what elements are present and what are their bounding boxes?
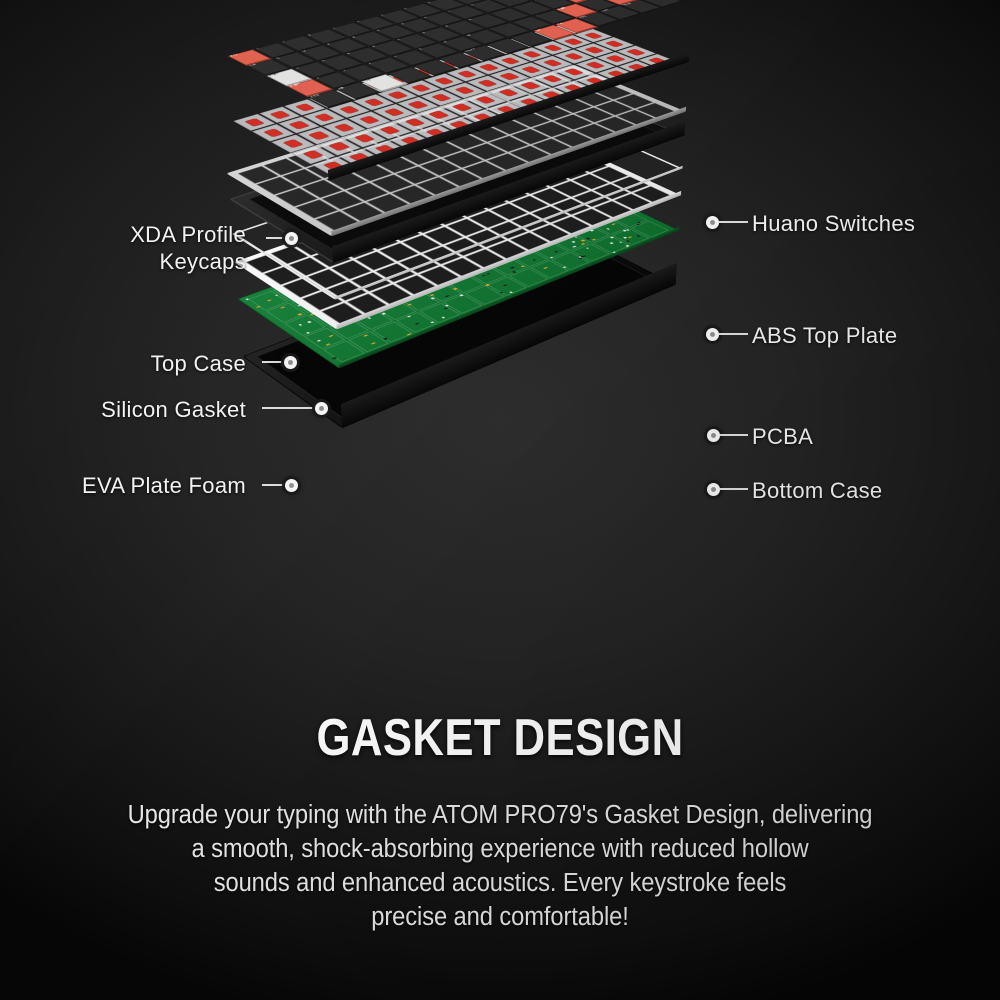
keycap: Q bbox=[274, 52, 317, 68]
keycap-legend: J bbox=[446, 26, 450, 27]
pcb-pad bbox=[307, 321, 311, 323]
pcb-pad bbox=[481, 275, 485, 277]
plate-cutout bbox=[553, 114, 592, 129]
switch bbox=[465, 92, 506, 108]
pcb-pad bbox=[510, 267, 514, 269]
switch bbox=[421, 90, 462, 106]
pcb-pad bbox=[503, 284, 507, 286]
callout-label-left-1: Top Case bbox=[92, 351, 246, 378]
switch bbox=[488, 85, 529, 101]
keycap-legend: Y bbox=[401, 23, 405, 25]
pcb-socket bbox=[304, 328, 345, 349]
iso-scene: ESC1234567890-=BACKDELTABQWERTYUIOP[]\PG… bbox=[240, 55, 760, 615]
keycap-legend: H bbox=[422, 32, 426, 34]
plate-cutout bbox=[574, 107, 613, 122]
pcb-pad bbox=[382, 313, 386, 315]
keycap: D bbox=[345, 47, 388, 63]
keycap: P bbox=[491, 0, 531, 7]
pcb-pad bbox=[563, 266, 567, 268]
keycap-legend: G bbox=[398, 39, 403, 41]
pcb-pad bbox=[612, 223, 616, 225]
keycap-legend: ; bbox=[514, 7, 517, 8]
pcb-pad bbox=[610, 242, 614, 244]
pcb-pad bbox=[445, 305, 449, 307]
callout-dot-left-2 bbox=[315, 402, 328, 415]
keycap: K bbox=[466, 14, 507, 28]
switch bbox=[233, 114, 275, 131]
keycap-legend: Z bbox=[316, 78, 320, 80]
pcb-pad bbox=[441, 316, 445, 318]
keycap: 1 bbox=[254, 43, 296, 58]
leader-line bbox=[718, 221, 748, 223]
callout-dot-left-3 bbox=[285, 479, 298, 492]
keycap bbox=[438, 52, 481, 68]
keycap-legend: A bbox=[296, 68, 300, 70]
keycap: T bbox=[375, 25, 417, 40]
pcb-pad bbox=[606, 228, 610, 230]
switch bbox=[344, 130, 387, 148]
keycap: X bbox=[340, 64, 384, 80]
pcb-pad bbox=[371, 342, 376, 344]
switch bbox=[252, 124, 294, 141]
callout-label-right-0: Huano Switches bbox=[752, 211, 915, 238]
switch bbox=[323, 119, 365, 136]
keycap-legend: 1 bbox=[257, 48, 261, 50]
keycap: J bbox=[443, 20, 484, 34]
keycap: SHIFT bbox=[555, 4, 596, 18]
pcb-pad bbox=[407, 316, 411, 318]
pcb-pad bbox=[298, 313, 303, 315]
keycap: TAB bbox=[247, 59, 290, 75]
keycap: G bbox=[395, 34, 437, 49]
keycap: RIGHT bbox=[641, 0, 681, 7]
plate-cutout bbox=[419, 158, 460, 175]
plate-cutout bbox=[238, 166, 279, 184]
keycap-legend: U bbox=[425, 17, 429, 19]
pcb-pad bbox=[298, 324, 302, 326]
pcb-pad bbox=[625, 247, 629, 249]
pcb-pad bbox=[581, 240, 585, 242]
keycap: U bbox=[423, 12, 464, 26]
pcb-pad bbox=[444, 307, 448, 309]
keycap-legend: LEFT bbox=[601, 9, 610, 12]
keycap-legend: TAB bbox=[250, 64, 259, 67]
pcb-pad bbox=[591, 239, 595, 241]
keycap-legend: ALT bbox=[535, 29, 543, 31]
switch bbox=[596, 52, 635, 66]
pcb-pad bbox=[407, 304, 412, 306]
plate-cutout bbox=[275, 188, 317, 207]
keycap-legend: F bbox=[373, 46, 377, 48]
keycap-legend: N bbox=[443, 41, 448, 43]
keycap-legend: . bbox=[513, 22, 516, 23]
pcb-pad bbox=[623, 237, 627, 239]
switch bbox=[394, 114, 436, 131]
pcb-pad bbox=[415, 323, 419, 325]
plate-cutout bbox=[510, 128, 550, 144]
pcb-pad bbox=[637, 235, 641, 237]
pcb-pad bbox=[430, 294, 435, 296]
keycap-legend: T bbox=[377, 30, 381, 32]
switch bbox=[291, 146, 335, 164]
switch bbox=[510, 78, 551, 93]
keycap bbox=[387, 67, 431, 84]
pcb-pad bbox=[453, 288, 458, 290]
keycap: ; bbox=[512, 1, 553, 15]
pcb-pad bbox=[667, 231, 671, 233]
pcb-pad bbox=[431, 298, 435, 300]
keycap: F bbox=[371, 40, 414, 55]
keycap: I bbox=[446, 6, 487, 20]
pcb-pad bbox=[383, 338, 387, 340]
plate-cutout bbox=[256, 177, 298, 195]
switch bbox=[278, 117, 320, 134]
keycap-legend: K bbox=[469, 19, 473, 21]
keycap: CTRL bbox=[577, 12, 618, 26]
keycap-legend: CAPS bbox=[269, 73, 281, 77]
keycap-legend: SPACE bbox=[465, 48, 478, 52]
switch bbox=[259, 107, 300, 124]
keycap: UP bbox=[598, 0, 638, 5]
switch bbox=[533, 56, 572, 70]
keycap: W bbox=[300, 45, 343, 61]
callout-label-left-3: EVA Plate Foam bbox=[44, 473, 246, 500]
callout-dot-left-0 bbox=[285, 232, 298, 245]
footer-section: GASKET DESIGN Upgrade your typing with t… bbox=[0, 690, 1000, 1000]
keycap: C bbox=[366, 57, 410, 73]
keycap: 3 bbox=[306, 29, 348, 44]
switch bbox=[444, 83, 485, 98]
pcb-pad bbox=[445, 295, 449, 297]
callout-dot-left-1 bbox=[284, 356, 297, 369]
keycap bbox=[577, 0, 617, 11]
keycap bbox=[413, 59, 457, 75]
keycap-legend: DOWN bbox=[622, 3, 633, 6]
keycap-legend: V bbox=[394, 55, 398, 57]
pcb-pad bbox=[485, 284, 490, 286]
keycap-legend: X bbox=[343, 70, 348, 72]
pcb-pad bbox=[628, 236, 632, 238]
keycap: E bbox=[325, 38, 367, 53]
callout-label-left-0: XDA Profile Keycaps bbox=[104, 222, 246, 276]
callout-label-right-1: ABS Top Plate bbox=[752, 323, 897, 350]
keycap-legend: B bbox=[419, 48, 423, 50]
pcb-pad bbox=[266, 299, 271, 301]
pcb-pad bbox=[317, 340, 321, 342]
keycap bbox=[486, 38, 529, 53]
plate-cutout bbox=[301, 180, 343, 198]
pcb-pad bbox=[587, 213, 590, 215]
keycap-legend: E bbox=[328, 44, 332, 46]
keycap-legend: SHIFT bbox=[290, 83, 302, 87]
switch bbox=[489, 69, 529, 84]
switch bbox=[442, 99, 484, 115]
keycap-legend: FN bbox=[557, 23, 563, 25]
page-title: GASKET DESIGN bbox=[80, 708, 920, 768]
keycap: L bbox=[489, 8, 530, 22]
keycap-legend: O bbox=[471, 4, 475, 6]
keycap: ESC bbox=[228, 50, 271, 66]
keycap: H bbox=[419, 27, 461, 42]
plate-cutout bbox=[395, 166, 437, 184]
pcb-pad bbox=[332, 357, 336, 359]
keycap: [ bbox=[513, 0, 553, 1]
keycap-legend: 4 bbox=[333, 28, 337, 29]
keycap-legend: 3 bbox=[308, 35, 312, 36]
plate-cutout bbox=[346, 182, 388, 200]
keycap-legend: C bbox=[369, 63, 374, 65]
pcb-pad bbox=[430, 321, 434, 323]
keycap: 8 bbox=[426, 0, 466, 11]
keycap-legend: 7 bbox=[405, 9, 409, 10]
keycap-legend: R bbox=[353, 37, 357, 39]
switch bbox=[532, 71, 572, 86]
keycap: DOWN bbox=[620, 0, 661, 13]
keycap: V bbox=[391, 50, 434, 66]
keycap: ALT bbox=[361, 74, 406, 91]
pcb-pad bbox=[460, 294, 464, 296]
plate-cutout bbox=[321, 191, 364, 210]
callout-label-right-2: PCBA bbox=[752, 424, 813, 451]
body-copy: Upgrade your typing with the ATOM PRO79'… bbox=[91, 798, 909, 935]
keycap: 6 bbox=[379, 10, 420, 24]
keycap-legend: W bbox=[302, 50, 307, 52]
plate-cutout bbox=[295, 199, 338, 218]
switch bbox=[575, 58, 615, 72]
switch bbox=[418, 107, 460, 124]
keycap: B bbox=[416, 43, 459, 58]
keycap: ' bbox=[534, 0, 574, 9]
pcb-pad bbox=[610, 237, 614, 239]
pcb-pad bbox=[586, 238, 590, 240]
callout-label-right-3: Bottom Case bbox=[752, 478, 882, 505]
switch bbox=[349, 112, 391, 129]
switch bbox=[298, 127, 341, 144]
plate-cutout bbox=[488, 136, 528, 152]
switch bbox=[554, 50, 593, 64]
keycap: / bbox=[533, 10, 574, 24]
pcb-pad bbox=[636, 224, 640, 226]
pcb-pad bbox=[280, 307, 285, 309]
switch bbox=[397, 97, 438, 113]
keycap: . bbox=[511, 16, 552, 30]
keycap-legend: M bbox=[467, 34, 472, 36]
switch bbox=[369, 122, 412, 139]
keycap-legend: WIN bbox=[337, 87, 346, 90]
keycap: 2 bbox=[280, 36, 322, 51]
keycap-legend: 2 bbox=[283, 41, 287, 43]
keycap: ENTER bbox=[555, 0, 595, 3]
leader-line bbox=[718, 333, 748, 335]
plate-cutout bbox=[466, 143, 507, 160]
keycap: Z bbox=[314, 72, 358, 89]
keycap-legend: S bbox=[322, 60, 326, 62]
keycap-legend: / bbox=[535, 15, 538, 16]
keycap: O bbox=[468, 0, 508, 13]
keycap: S bbox=[320, 54, 363, 70]
keycap-legend: ESC bbox=[230, 54, 239, 57]
pcb-pad bbox=[509, 291, 513, 293]
pcb-pad bbox=[487, 273, 491, 275]
pcb-pad bbox=[512, 271, 516, 273]
pcb-pad bbox=[275, 294, 279, 296]
keycap: , bbox=[488, 23, 530, 38]
keycap: 7 bbox=[402, 3, 442, 17]
keycap: WIN bbox=[335, 82, 380, 99]
keycap: CTRL bbox=[308, 90, 353, 108]
keycap: 5 bbox=[355, 16, 396, 30]
pcb-pad bbox=[328, 335, 333, 337]
leader-line bbox=[262, 407, 320, 409]
keycap-legend: CTRL bbox=[310, 94, 321, 98]
pcb-pad bbox=[306, 332, 310, 334]
callout-label-left-2: Silicon Gasket bbox=[60, 397, 246, 424]
keycap-legend: D bbox=[348, 53, 353, 55]
product-infographic: ESC1234567890-=BACKDELTABQWERTYUIOP[]\PG… bbox=[0, 0, 1000, 1000]
pcb-pad bbox=[598, 213, 601, 215]
keycap bbox=[510, 31, 552, 46]
keycap-legend: SHIFT bbox=[557, 7, 567, 10]
switch bbox=[272, 135, 315, 153]
keycap-legend: CTRL bbox=[579, 16, 589, 19]
keycap-legend: Q bbox=[276, 58, 281, 60]
keycap: FN bbox=[555, 18, 597, 32]
keycap-legend: I bbox=[448, 11, 451, 12]
switch bbox=[318, 138, 361, 156]
pcb-pad bbox=[631, 246, 635, 248]
switch bbox=[373, 104, 415, 120]
pcb-pad bbox=[623, 230, 627, 232]
switch bbox=[554, 65, 594, 80]
pcb-pad bbox=[245, 298, 249, 300]
keycap-legend: 5 bbox=[357, 21, 361, 22]
keycap: 9 bbox=[448, 0, 488, 5]
keycap-legend: , bbox=[490, 28, 493, 29]
keycap: ALT bbox=[533, 25, 575, 40]
switch bbox=[511, 62, 551, 77]
pcb-pad bbox=[543, 267, 547, 269]
pcb-pad bbox=[619, 241, 623, 243]
plate-cutout bbox=[371, 174, 413, 192]
keycap: Y bbox=[399, 18, 440, 32]
keycap-legend: 8 bbox=[428, 2, 432, 3]
pcb-pad bbox=[256, 306, 261, 308]
keycap-legend: L bbox=[492, 13, 496, 14]
exploded-view-diagram: ESC1234567890-=BACKDELTABQWERTYUIOP[]\PG… bbox=[0, 0, 1000, 690]
keycap: R bbox=[350, 31, 392, 46]
plate-cutout bbox=[443, 151, 484, 168]
pcb-pad bbox=[521, 265, 525, 267]
switch bbox=[467, 76, 507, 91]
keycap: 4 bbox=[331, 22, 372, 37]
pcb-pad bbox=[612, 251, 616, 253]
pcb-pad bbox=[363, 335, 368, 337]
keycap: M bbox=[464, 29, 506, 44]
pcb-pad bbox=[499, 292, 503, 294]
keycap: LEFT bbox=[599, 6, 640, 20]
pcb-pad bbox=[626, 240, 630, 242]
leader-line bbox=[719, 488, 748, 490]
keycap: CAPS bbox=[267, 69, 311, 86]
keycap: A bbox=[293, 62, 337, 78]
keycap-legend: 6 bbox=[381, 15, 385, 16]
keycap: SHIFT bbox=[287, 79, 332, 96]
pcb-pad bbox=[325, 343, 330, 345]
keycap-legend: ALT bbox=[364, 79, 372, 82]
keycap: N bbox=[441, 36, 483, 51]
plate-cutout bbox=[532, 121, 572, 137]
leader-line bbox=[719, 434, 748, 436]
keycap: SPACE bbox=[462, 45, 505, 61]
keycap-legend: ' bbox=[536, 1, 539, 2]
